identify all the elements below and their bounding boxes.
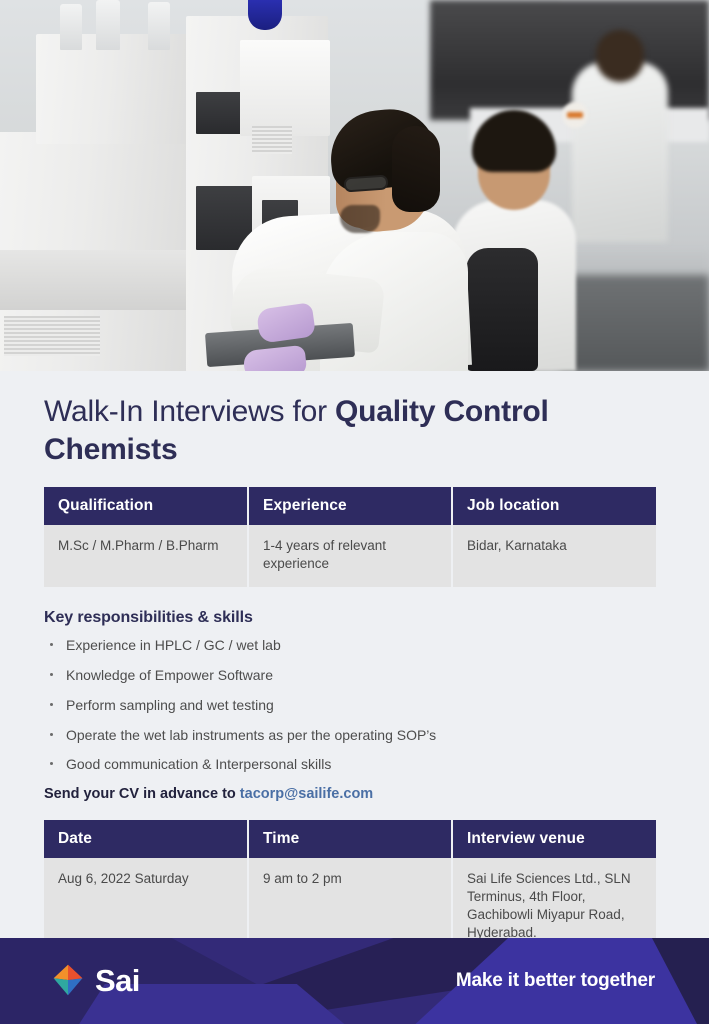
- interview-table-header-row: Date Time Interview venue: [44, 820, 656, 858]
- chemist-glasses: [344, 174, 389, 192]
- job-table-header-row: Qualification Experience Job location: [44, 487, 656, 525]
- list-item: Experience in HPLC / GC / wet lab: [44, 637, 665, 654]
- page-title: Walk-In Interviews for Quality Control C…: [44, 393, 665, 469]
- interview-header-date: Date: [44, 820, 249, 858]
- responsibilities-list: Experience in HPLC / GC / wet lab Knowle…: [44, 637, 665, 773]
- hero-photo-canvas: [0, 0, 709, 371]
- page-title-lead: Walk-In Interviews for: [44, 395, 335, 428]
- solvent-bottle-blue-cap: [248, 0, 282, 30]
- job-cell-location: Bidar, Karnataka: [453, 525, 656, 587]
- list-item: Good communication & Interpersonal skill…: [44, 756, 665, 773]
- hplc-module-left-top: [36, 34, 196, 144]
- responsibilities-title: Key responsibilities & skills: [44, 609, 665, 627]
- list-item: Perform sampling and wet testing: [44, 697, 665, 714]
- cv-instruction-prefix: Send your CV in advance to: [44, 786, 240, 802]
- background-person-far: [572, 62, 668, 242]
- hero-photo: [0, 0, 709, 371]
- job-header-qualification: Qualification: [44, 487, 249, 525]
- job-header-experience: Experience: [249, 487, 453, 525]
- brand-wordmark: Sai: [95, 965, 140, 996]
- job-details-table: Qualification Experience Job location M.…: [44, 487, 656, 587]
- job-table-row: M.Sc / M.Pharm / B.Pharm 1-4 years of re…: [44, 525, 656, 587]
- brand-tagline: Make it better together: [456, 970, 655, 992]
- interview-header-venue: Interview venue: [453, 820, 656, 858]
- hplc-detector: [240, 40, 330, 136]
- hplc-vent-grill-top: [252, 126, 292, 154]
- job-cell-qualification: M.Sc / M.Pharm / B.Pharm: [44, 525, 249, 587]
- background-person-far-head: [596, 30, 644, 82]
- interview-header-time: Time: [249, 820, 453, 858]
- job-header-location: Job location: [453, 487, 656, 525]
- content-panel: Walk-In Interviews for Quality Control C…: [0, 371, 709, 938]
- brand-logo: Sai: [50, 962, 140, 998]
- lab-background-dark-floor: [560, 275, 709, 371]
- list-item: Knowledge of Empower Software: [44, 667, 665, 684]
- list-item: Operate the wet lab instruments as per t…: [44, 727, 665, 744]
- background-wall-badge: [562, 102, 588, 128]
- cv-instruction: Send your CV in advance to tacorp@sailif…: [44, 786, 665, 802]
- hplc-module-left-mid: [0, 250, 190, 310]
- solvent-bottle-b: [96, 0, 120, 50]
- chemist-beard: [340, 205, 380, 233]
- sai-diamond-logo-icon: [50, 962, 86, 998]
- hplc-vent-grill-left: [4, 316, 100, 356]
- interview-details-table: Date Time Interview venue Aug 6, 2022 Sa…: [44, 820, 656, 956]
- cv-email-link[interactable]: tacorp@sailife.com: [240, 786, 373, 802]
- chemist-hair-back: [392, 126, 440, 212]
- solvent-bottle-a: [60, 4, 82, 50]
- job-cell-experience: 1-4 years of relevant experience: [249, 525, 453, 587]
- solvent-bottle-c: [148, 2, 170, 50]
- footer-bar: Sai Make it better together: [0, 938, 709, 1024]
- lab-chair: [466, 248, 538, 371]
